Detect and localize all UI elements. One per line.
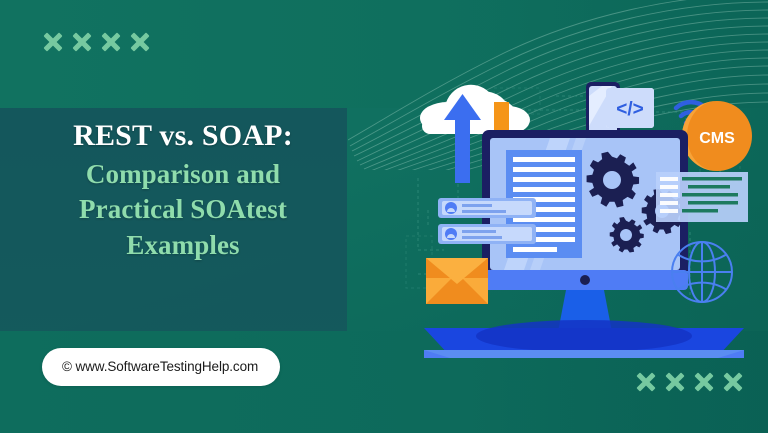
platform bbox=[424, 320, 744, 358]
title-subtitle-line-2: Practical SOAtest bbox=[18, 192, 348, 227]
decor-x-marks-top bbox=[43, 32, 150, 52]
title-subtitle-line-1: Comparison and bbox=[18, 157, 348, 192]
code-glyph-text: </> bbox=[616, 99, 643, 120]
title-primary: REST vs. SOAP: bbox=[18, 118, 348, 153]
x-mark-icon bbox=[43, 32, 63, 52]
user-card-row bbox=[438, 224, 536, 244]
envelope-icon bbox=[426, 258, 488, 304]
decor-x-marks-bottom bbox=[636, 372, 743, 392]
banner-title-block: REST vs. SOAP: Comparison and Practical … bbox=[18, 118, 348, 263]
x-mark-icon bbox=[101, 32, 121, 52]
x-mark-icon bbox=[723, 372, 743, 392]
x-mark-icon bbox=[694, 372, 714, 392]
article-banner: REST vs. SOAP: Comparison and Practical … bbox=[0, 0, 768, 433]
x-mark-icon bbox=[665, 372, 685, 392]
x-mark-icon bbox=[72, 32, 92, 52]
code-panel bbox=[656, 172, 748, 222]
illustration-svg: </> CMS bbox=[400, 60, 768, 360]
cms-badge-text: CMS bbox=[699, 130, 735, 147]
cms-badge: CMS bbox=[682, 101, 752, 171]
cloud-icon bbox=[420, 85, 530, 134]
user-card-row bbox=[438, 198, 536, 218]
x-mark-icon bbox=[130, 32, 150, 52]
x-mark-icon bbox=[636, 372, 656, 392]
hero-illustration: </> CMS bbox=[400, 60, 768, 360]
title-subtitle-line-3: Examples bbox=[18, 228, 348, 263]
title-subtitle: Comparison and Practical SOAtest Example… bbox=[18, 157, 348, 262]
site-credit-text: © www.SoftwareTestingHelp.com bbox=[62, 359, 258, 374]
globe-icon bbox=[672, 242, 732, 302]
site-credit-pill[interactable]: © www.SoftwareTestingHelp.com bbox=[42, 348, 280, 386]
